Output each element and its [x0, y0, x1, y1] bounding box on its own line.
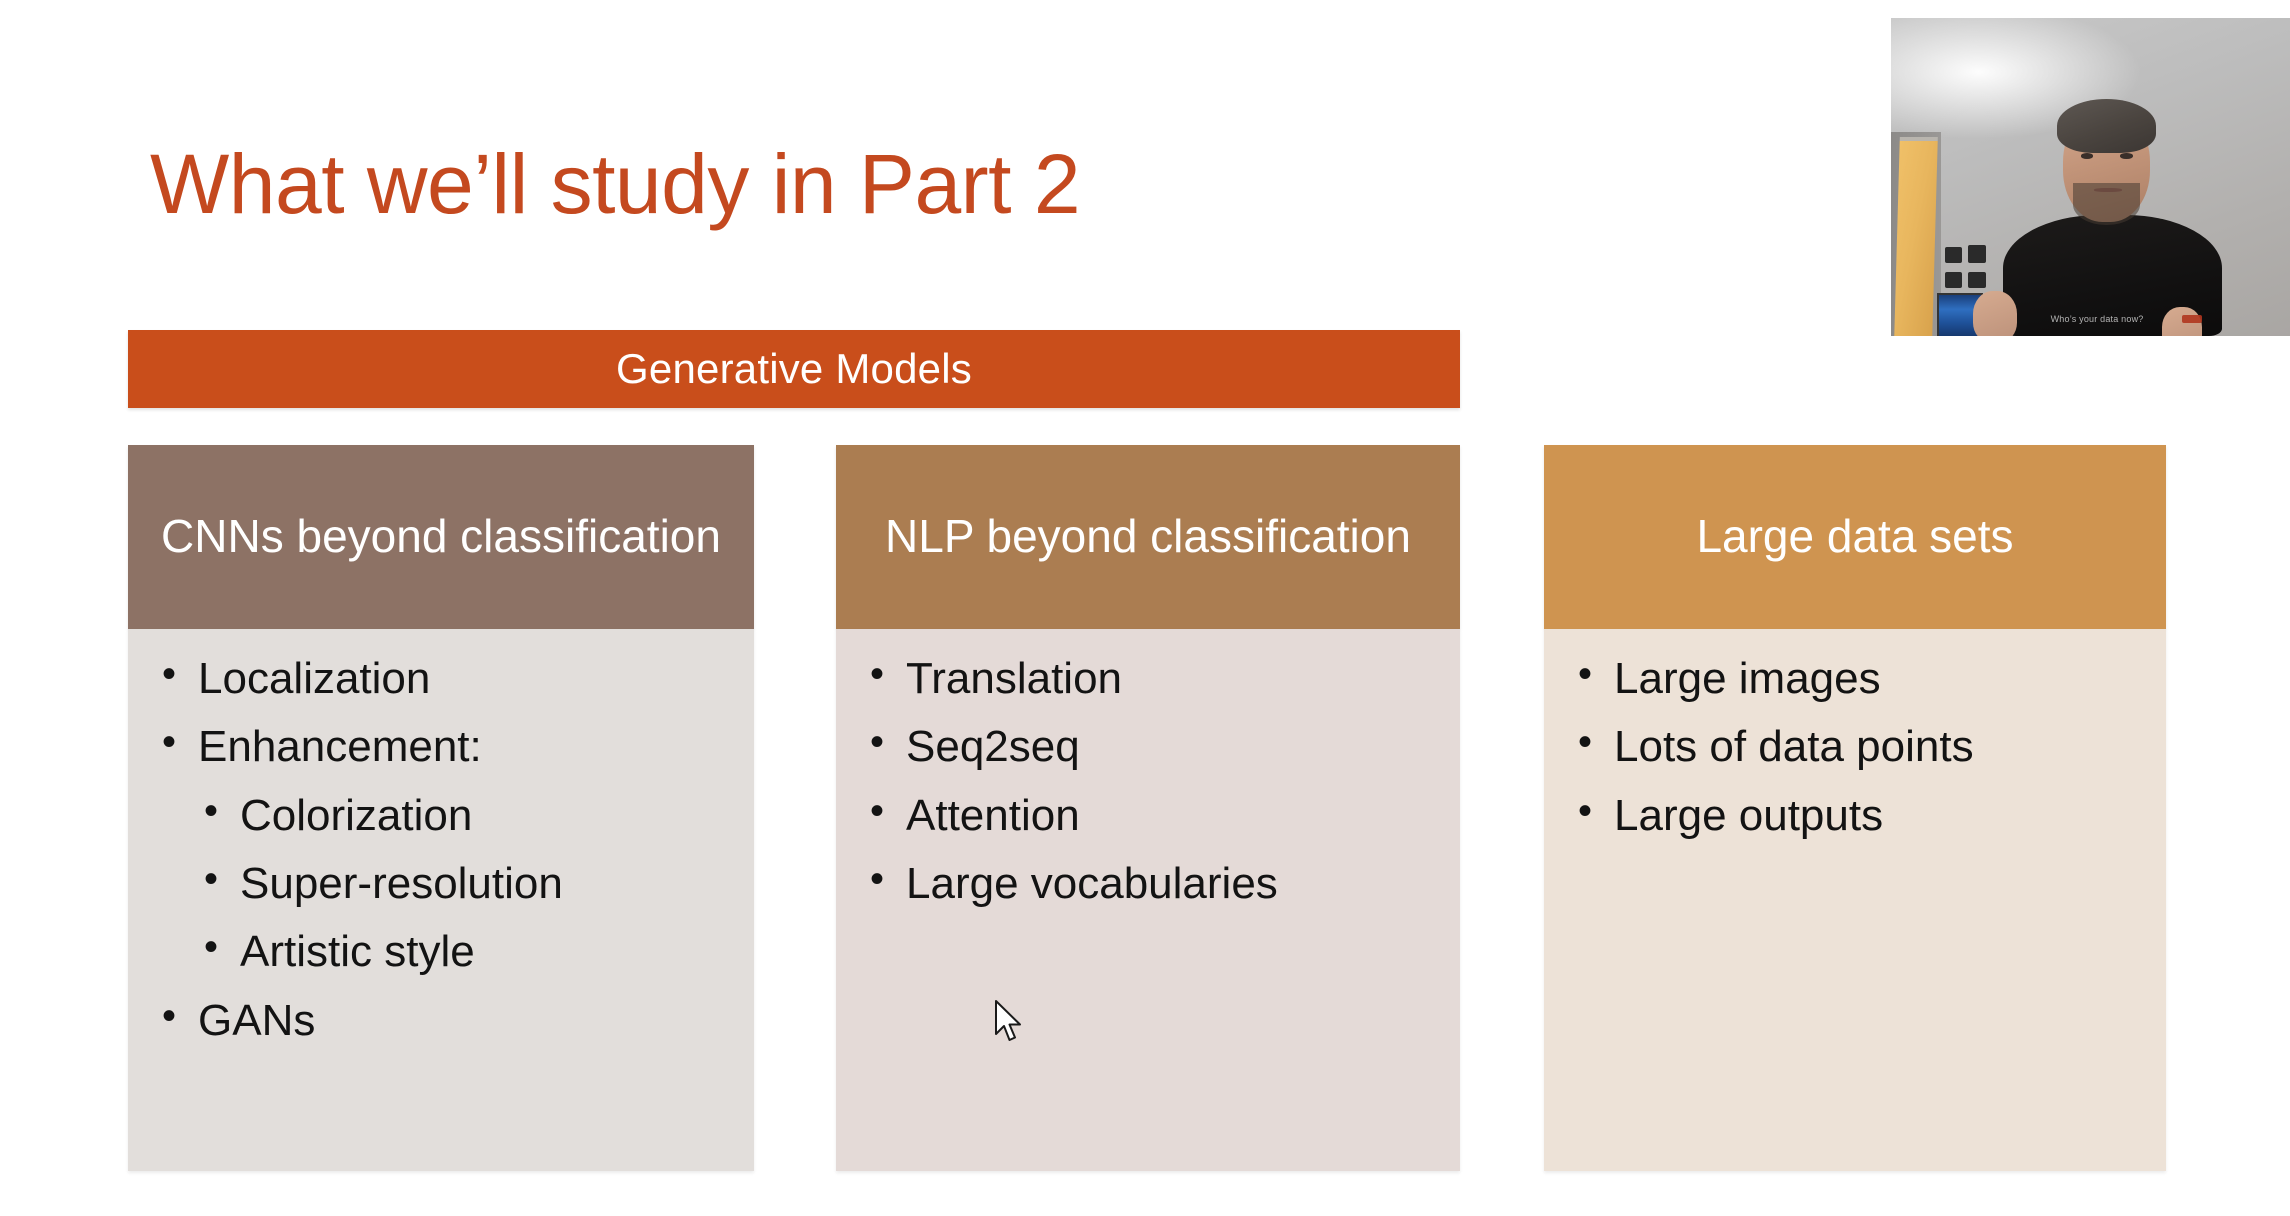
column-large-data-sets: Large data sets Large images Lots of dat…: [1544, 445, 2166, 1171]
list-item: Translation: [858, 651, 1460, 707]
webcam-wall-button: [1968, 245, 1986, 262]
list-item: Enhancement:: [150, 719, 754, 775]
bullet-list-cnns: Localization Enhancement: Colorization S…: [128, 651, 754, 1049]
webcam-presenter-eye-left: [2081, 153, 2093, 158]
presentation-slide: What we’ll study in Part 2 Generative Mo…: [0, 0, 2290, 1216]
list-item: GANs: [150, 993, 754, 1049]
slide-title: What we’ll study in Part 2: [150, 140, 1080, 228]
webcam-presenter-hand-left: [1973, 291, 2017, 336]
column-header-nlp: NLP beyond classification: [836, 445, 1460, 629]
banner-label: Generative Models: [616, 345, 972, 393]
column-body-large-data-sets: Large images Lots of data points Large o…: [1544, 629, 2166, 1171]
list-item: Large outputs: [1566, 788, 2166, 844]
list-item: Attention: [858, 788, 1460, 844]
webcam-wall-button: [1968, 272, 1986, 288]
webcam-wall-button: [1945, 272, 1962, 288]
list-item: Super-resolution: [192, 856, 754, 912]
list-item: Lots of data points: [1566, 719, 2166, 775]
column-cnns-beyond-classification: CNNs beyond classification Localization …: [128, 445, 754, 1171]
column-body-nlp: Translation Seq2seq Attention Large voca…: [836, 629, 1460, 1171]
column-nlp-beyond-classification: NLP beyond classification Translation Se…: [836, 445, 1460, 1171]
list-item: Localization: [150, 651, 754, 707]
list-item: Large images: [1566, 651, 2166, 707]
bullet-list-large-data-sets: Large images Lots of data points Large o…: [1544, 651, 2166, 844]
webcam-shirt-text: Who’s your data now?: [2051, 314, 2144, 324]
webcam-presenter-eye-right: [2120, 153, 2132, 158]
list-item: Artistic style: [192, 924, 754, 980]
column-header-label-nlp: NLP beyond classification: [867, 511, 1429, 563]
column-header-cnns: CNNs beyond classification: [128, 445, 754, 629]
list-item: Colorization: [192, 788, 754, 844]
webcam-shirt-logo: [2182, 315, 2202, 323]
column-body-cnns: Localization Enhancement: Colorization S…: [128, 629, 754, 1171]
webcam-presenter-hair: [2057, 99, 2157, 153]
presenter-webcam-video[interactable]: Who’s your data now?: [1891, 18, 2290, 336]
column-header-label-cnns: CNNs beyond classification: [143, 511, 739, 563]
column-header-large-data-sets: Large data sets: [1544, 445, 2166, 629]
webcam-wall-button: [1945, 247, 1962, 263]
list-item: Seq2seq: [858, 719, 1460, 775]
webcam-yellow-panel: [1894, 137, 1938, 336]
list-item: Large vocabularies: [858, 856, 1460, 912]
generative-models-banner: Generative Models: [128, 330, 1460, 408]
bullet-list-nlp: Translation Seq2seq Attention Large voca…: [836, 651, 1460, 912]
column-header-label-large-data-sets: Large data sets: [1678, 511, 2031, 563]
